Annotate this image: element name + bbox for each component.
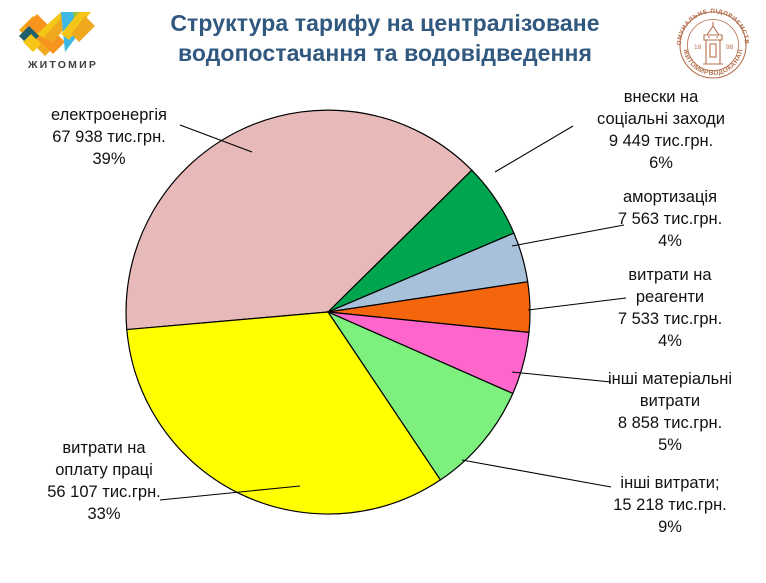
pie-label-labor-name-2: оплату праці	[4, 459, 204, 481]
pie-label-labor-value: 56 107 тис.грн.	[4, 481, 204, 503]
pie-label-social: внески на соціальні заходи 9 449 тис.грн…	[566, 86, 756, 174]
pie-label-reagents-value: 7 533 тис.грн.	[580, 308, 760, 330]
pie-label-social-value: 9 449 тис.грн.	[566, 130, 756, 152]
pie-label-other-name: інші витрати;	[580, 472, 760, 494]
pie-label-labor-percent: 33%	[4, 503, 204, 525]
leader-line-social	[495, 126, 573, 172]
pie-label-other-value: 15 218 тис.грн.	[580, 494, 760, 516]
pie-label-electricity-value: 67 938 тис.грн.	[14, 126, 204, 148]
pie-label-other-material-value: 8 858 тис.грн.	[580, 412, 760, 434]
pie-label-amortization-name: амортизація	[580, 186, 760, 208]
pie-label-labor: витрати на оплату праці 56 107 тис.грн. …	[4, 437, 204, 525]
pie-label-labor-name-1: витрати на	[4, 437, 204, 459]
pie-label-social-name-2: соціальні заходи	[566, 108, 756, 130]
pie-label-reagents-name-1: витрати на	[580, 264, 760, 286]
pie-label-electricity-name: електроенергія	[14, 104, 204, 126]
pie-label-social-name-1: внески на	[566, 86, 756, 108]
pie-label-other-material-percent: 5%	[580, 434, 760, 456]
pie-label-electricity-percent: 39%	[14, 148, 204, 170]
pie-label-reagents-name-2: реагенти	[580, 286, 760, 308]
pie-label-reagents: витрати на реагенти 7 533 тис.грн. 4%	[580, 264, 760, 352]
pie-label-other-percent: 9%	[580, 516, 760, 538]
pie-label-other-material-name-1: інші матеріальні	[580, 368, 760, 390]
pie-label-other-material: інші матеріальні витрати 8 858 тис.грн. …	[580, 368, 760, 456]
pie-label-social-percent: 6%	[566, 152, 756, 174]
pie-label-other: інші витрати; 15 218 тис.грн. 9%	[580, 472, 760, 538]
pie-label-amortization: амортизація 7 563 тис.грн. 4%	[580, 186, 760, 252]
pie-label-amortization-value: 7 563 тис.грн.	[580, 208, 760, 230]
pie-label-reagents-percent: 4%	[580, 330, 760, 352]
pie-label-other-material-name-2: витрати	[580, 390, 760, 412]
slide-canvas: ЖИТОМИР Структура тарифу на централізова…	[0, 0, 766, 578]
pie-label-amortization-percent: 4%	[580, 230, 760, 252]
pie-label-electricity: електроенергія 67 938 тис.грн. 39%	[14, 104, 204, 170]
